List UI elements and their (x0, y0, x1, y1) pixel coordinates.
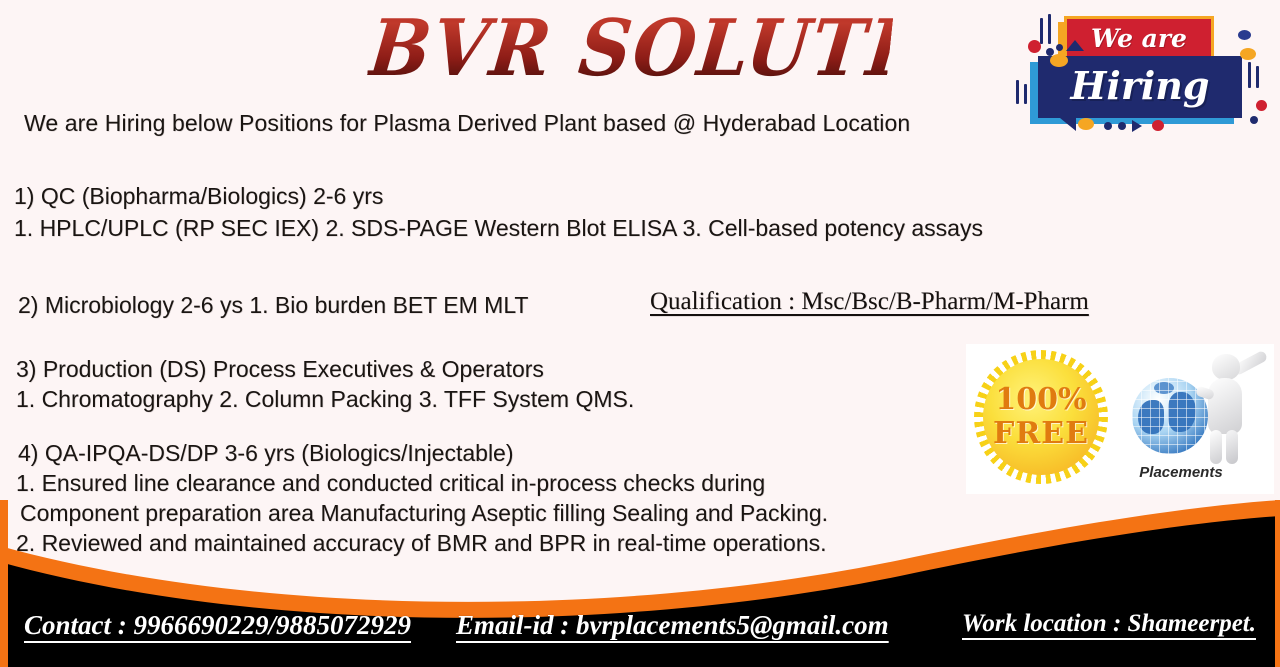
decor-triangle-icon (1066, 40, 1084, 51)
qualification-line: Qualification : Msc/Bsc/B-Pharm/M-Pharm (650, 288, 1089, 316)
figure-leg (1226, 430, 1238, 464)
footer-contact-band: Contact : 9966690229/9885072929 Email-id… (0, 500, 1280, 667)
free-badge-label: FREE (974, 416, 1108, 451)
decor-dash-icon (1016, 80, 1019, 104)
decor-dash-icon (1048, 14, 1051, 44)
placements-artwork: 100% FREE Placements (966, 344, 1274, 494)
position-2-heading: 2) Microbiology 2-6 ys 1. Bio burden BET… (18, 292, 528, 319)
figure-body (1208, 378, 1242, 434)
decor-dot-icon (1118, 122, 1126, 130)
position-1-detail-1: 1. HPLC/UPLC (RP SEC IEX) 2. SDS-PAGE We… (14, 215, 983, 242)
free-badge-percent: 100% (974, 382, 1108, 417)
contact-email[interactable]: Email-id : bvrplacements5@gmail.com (456, 610, 889, 641)
we-are-hiring-badge: We are Hiring (1012, 4, 1274, 130)
position-4-heading: 4) QA-IPQA-DS/DP 3-6 yrs (Biologics/Inje… (18, 440, 514, 467)
free-starburst-badge: 100% FREE (974, 350, 1108, 484)
decor-triangle-icon (1132, 120, 1142, 132)
decor-dot-icon (1240, 48, 1256, 60)
company-title: BVR SOLUTIONS (365, 0, 895, 98)
decor-dot-icon (1104, 122, 1112, 130)
contact-phone[interactable]: Contact : 9966690229/9885072929 (24, 610, 411, 641)
position-3-detail-1: 1. Chromatography 2. Column Packing 3. T… (16, 386, 634, 413)
figure-leg (1210, 430, 1222, 464)
decor-dot-icon (1250, 116, 1258, 124)
decor-dash-icon (1248, 62, 1251, 88)
decor-dash-icon (1024, 84, 1027, 104)
badge-line-hiring: Hiring (1038, 54, 1242, 116)
decor-dot-icon (1238, 30, 1251, 40)
decor-dash-icon (1040, 18, 1043, 44)
decor-dot-icon (1152, 120, 1164, 131)
position-1-heading: 1) QC (Biopharma/Biologics) 2-6 yrs (14, 183, 383, 210)
decor-dash-icon (1256, 66, 1259, 88)
decor-dot-icon (1078, 118, 1094, 130)
work-location: Work location : Shameerpet. (962, 610, 1256, 638)
person-figure-icon (1190, 352, 1270, 464)
decor-dot-icon (1028, 40, 1041, 53)
decor-dot-icon (1050, 54, 1068, 67)
placements-label: Placements (1116, 464, 1246, 481)
decor-dot-icon (1056, 44, 1063, 51)
position-3-heading: 3) Production (DS) Process Executives & … (16, 356, 544, 383)
decor-dot-icon (1256, 100, 1267, 111)
intro-line: We are Hiring below Positions for Plasma… (24, 110, 910, 137)
job-poster: BVR SOLUTIONS We are Hiring We are Hirin… (0, 0, 1280, 667)
position-4-detail-1: 1. Ensured line clearance and conducted … (16, 470, 765, 497)
footer-contact-row: Contact : 9966690229/9885072929 Email-id… (0, 604, 1280, 656)
figure-head (1212, 354, 1240, 380)
